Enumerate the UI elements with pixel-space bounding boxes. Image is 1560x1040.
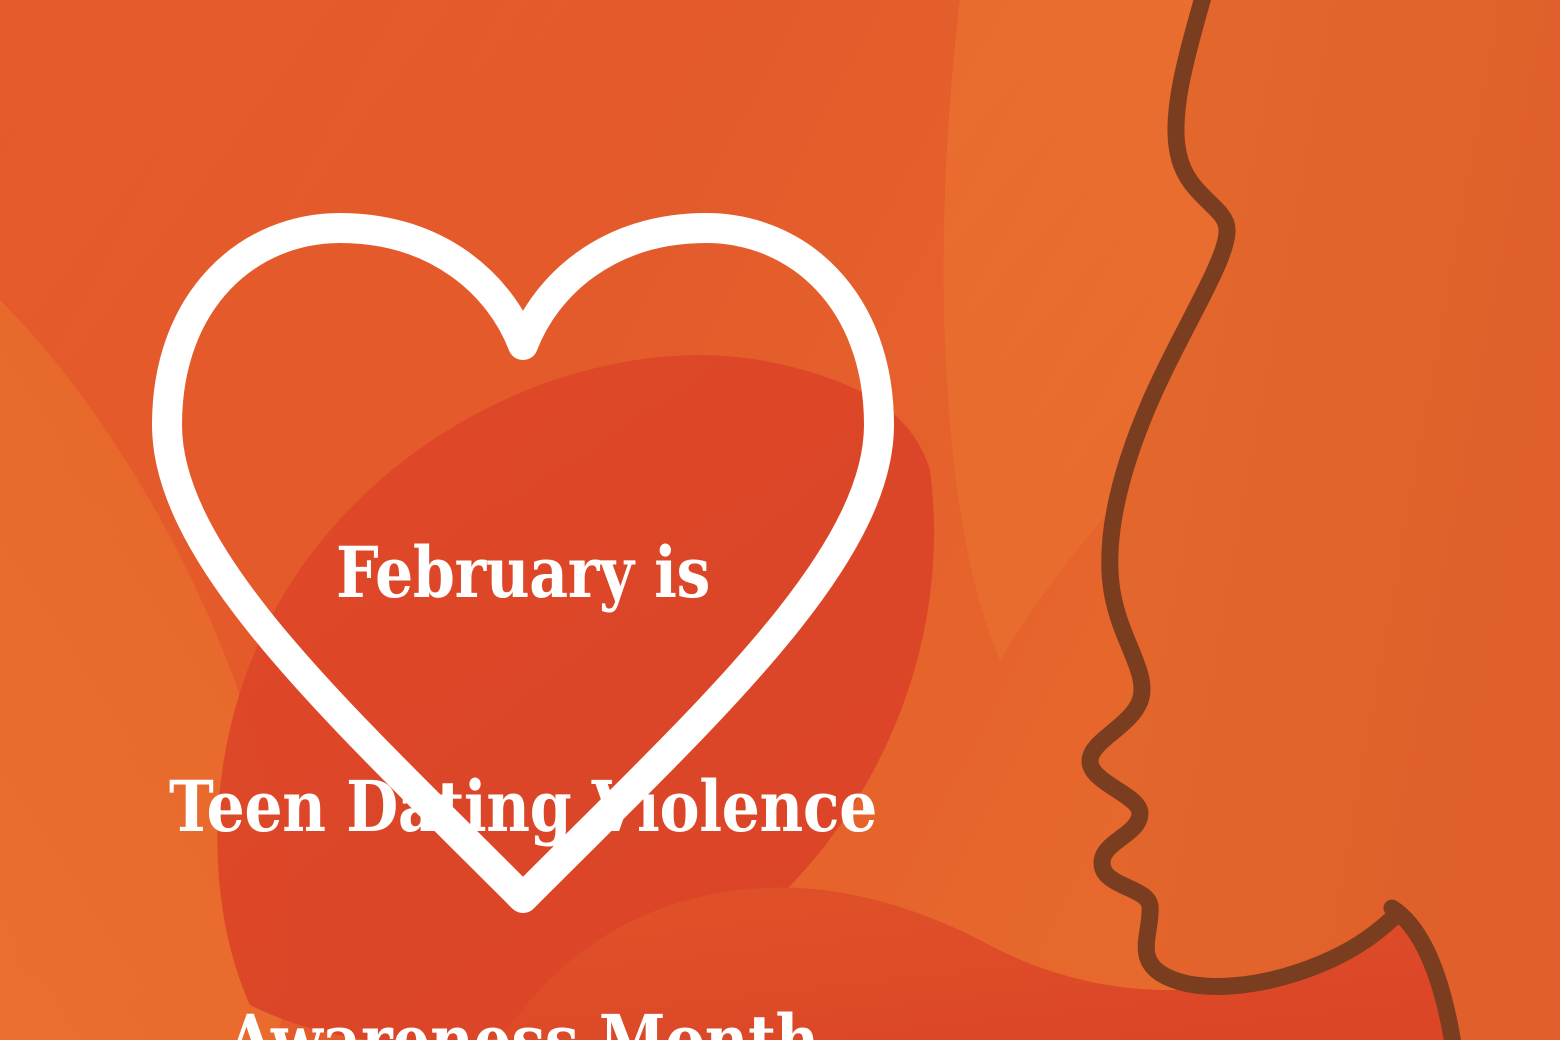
poster-artwork — [0, 0, 1560, 1040]
awareness-poster: February is Teen Dating Violence Awarene… — [0, 0, 1560, 1040]
